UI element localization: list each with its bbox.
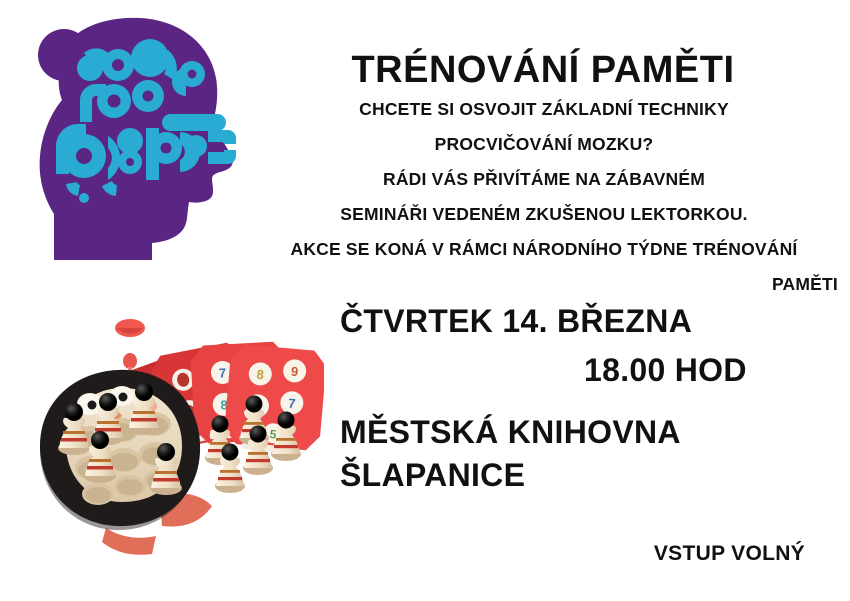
svg-text:7: 7	[288, 396, 297, 412]
svg-text:9: 9	[290, 364, 299, 380]
event-city: ŠLAPANICE	[340, 455, 840, 497]
intro-line-4: SEMINÁŘI VEDENÉM ZKUŠENOU LEKTORKOU.	[250, 197, 838, 232]
entry-note: VSTUP VOLNÝ	[340, 542, 805, 566]
event-date: ČTVRTEK 14. BŘEZNA	[340, 300, 840, 343]
intro-line-5: AKCE SE KONÁ V RÁMCI NÁRODNÍHO TÝDNE TRÉ…	[250, 232, 838, 267]
event-venue: MĚSTSKÁ KNIHOVNA	[340, 410, 840, 455]
svg-text:8: 8	[256, 367, 265, 383]
intro-line-1: CHCETE SI OSVOJIT ZÁKLADNÍ TECHNIKY	[250, 92, 838, 127]
intro-text: CHCETE SI OSVOJIT ZÁKLADNÍ TECHNIKY PROC…	[250, 92, 838, 302]
svg-text:7: 7	[219, 365, 227, 380]
page-title: TRÉNOVÁNÍ PAMĚTI	[258, 49, 828, 92]
intro-line-6: PAMĚTI	[250, 267, 838, 302]
event-time: 18.00 HOD	[340, 347, 840, 393]
intro-line-2: PROCVIČOVÁNÍ MOZKU?	[250, 127, 838, 162]
head-brain-icon	[22, 8, 254, 260]
intro-line-3: RÁDI VÁS PŘIVÍTÁME NA ZÁBAVNÉM	[250, 162, 838, 197]
event-details: ČTVRTEK 14. BŘEZNA 18.00 HOD MĚSTSKÁ KNI…	[340, 300, 840, 497]
memory-game-photo: B E	[18, 298, 324, 560]
poster-canvas: B E	[0, 0, 850, 601]
